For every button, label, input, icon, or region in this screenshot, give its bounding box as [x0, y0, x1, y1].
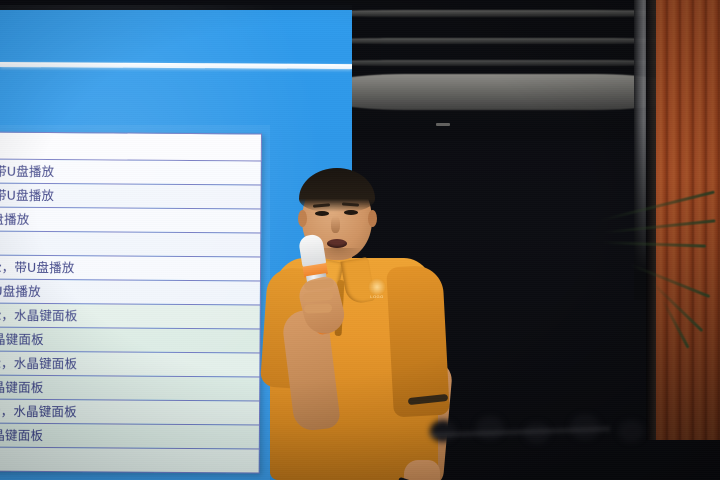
ceiling-light-strip-3	[330, 60, 670, 66]
table-row: 0万像素，带U盘播放	[0, 207, 261, 233]
speaker-ear-right	[368, 210, 377, 227]
speaker-eye-right	[344, 210, 358, 215]
table-body: 像素@60Hz，带U盘播放 像素@60Hz，带U盘播放 0万像素，带U盘播放 0…	[0, 159, 261, 473]
table-header-row: 说明	[0, 132, 261, 161]
table-cell-spec: 0万像素，带U盘播放	[0, 207, 261, 233]
table-row: 0万像素@60Hz，水晶键面板	[0, 398, 260, 424]
table-cell-spec: 像素@60Hz，带U盘播放	[0, 183, 261, 209]
table-row: 素@60Hz，水晶键面板	[0, 422, 259, 448]
table-cell-spec: 素@60Hz，水晶键面板	[0, 326, 260, 352]
ceiling-light-strip-4	[330, 74, 670, 110]
table-cell-spec	[0, 446, 259, 472]
speaker-nose	[331, 216, 340, 233]
table-row: 素@60Hz，水晶键面板	[0, 374, 260, 400]
table-row: 素@60Hz，带U盘播放	[0, 278, 260, 304]
table-cell-spec	[0, 231, 261, 257]
ceiling-vent-icon	[436, 123, 450, 126]
speaker-ear-left	[298, 210, 307, 227]
potted-plant	[600, 205, 720, 345]
table-row: 像素@60Hz，带U盘播放	[0, 183, 261, 209]
table-cell-spec: 素@60Hz，水晶键面板	[0, 374, 260, 400]
table-header-cell: 说明	[0, 132, 261, 161]
screen-top-bezel	[0, 5, 352, 10]
ceiling-light-strip-1	[330, 10, 670, 17]
table-cell-spec: 0万像素@60Hz，水晶键面板	[0, 398, 260, 424]
table-cell-spec: 像素@60Hz，带U盘播放	[0, 159, 261, 185]
presentation-photo: 说明 像素@60Hz，带U盘播放 像素@60Hz，带U盘播放 0万像素，带U盘播…	[0, 0, 720, 480]
table-cell-spec: 0万像素@60Hz，水晶键面板	[0, 350, 260, 376]
table-cell-spec: 0万像素@60Hz，水晶键面板	[0, 302, 260, 328]
speaker-finger-3	[304, 304, 332, 314]
table-cell-spec: 素@60Hz，带U盘播放	[0, 278, 260, 304]
slide-spec-table: 说明 像素@60Hz，带U盘播放 像素@60Hz，带U盘播放 0万像素，带U盘播…	[0, 131, 262, 473]
table-cell-spec: 素@60Hz，水晶键面板	[0, 422, 259, 448]
table-row	[0, 446, 259, 472]
table-row: 0万像素@60Hz，带U盘播放	[0, 255, 261, 281]
table-row: 素@60Hz，水晶键面板	[0, 326, 260, 352]
table-cell-spec: 0万像素@60Hz，带U盘播放	[0, 255, 261, 281]
table-row	[0, 231, 261, 257]
speaker-eye-left	[315, 211, 329, 216]
table-row: 0万像素@60Hz，水晶键面板	[0, 302, 260, 328]
ceiling-light-strip-2	[330, 38, 670, 44]
table-row: 0万像素@60Hz，水晶键面板	[0, 350, 260, 376]
speaker-hair	[299, 168, 375, 212]
speaker-right-hand	[404, 460, 440, 480]
slide-accent-line	[0, 62, 352, 69]
speaker-mouth	[327, 239, 347, 248]
table-row: 像素@60Hz，带U盘播放	[0, 159, 261, 185]
back-row-audience	[420, 396, 720, 456]
shirt-logo-label: LOGO	[362, 294, 392, 299]
ceiling-shadow	[330, 112, 630, 140]
